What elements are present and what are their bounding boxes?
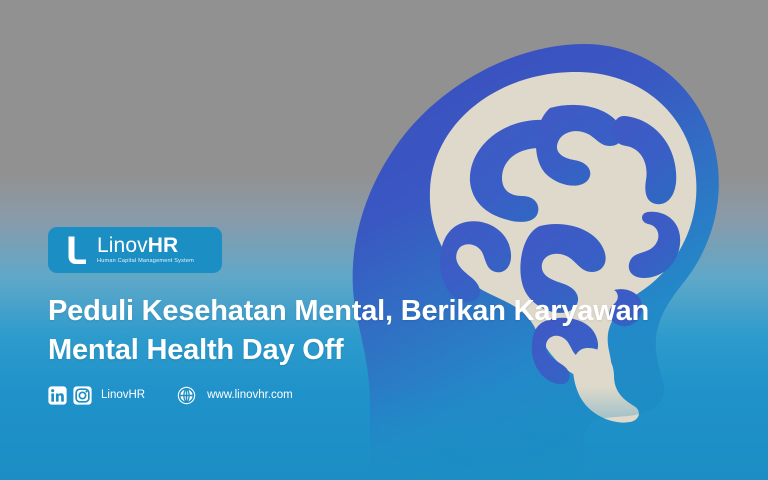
linovhr-L-mark-icon	[66, 235, 88, 265]
footer-social-row: LinovHR www.linovhr.com	[48, 384, 293, 406]
logo-wordmark: LinovHR	[97, 235, 194, 256]
headline-line-1: Peduli Kesehatan Mental, Berikan Karyawa…	[48, 292, 748, 331]
instagram-icon[interactable]	[73, 386, 92, 405]
headline-line-2: Mental Health Day Off	[48, 331, 748, 370]
globe-icon	[177, 386, 196, 405]
logo-tagline: Human Capital Management System	[97, 259, 194, 265]
headline: Peduli Kesehatan Mental, Berikan Karyawa…	[48, 292, 748, 370]
linkedin-icon[interactable]	[48, 386, 67, 405]
website-url: www.linovhr.com	[207, 389, 293, 401]
social-handle: LinovHR	[101, 389, 145, 401]
linovhr-logo[interactable]: LinovHR Human Capital Management System	[48, 227, 222, 273]
logo-word-primary: Linov	[97, 234, 148, 257]
logo-text: LinovHR Human Capital Management System	[97, 235, 194, 265]
social-links: LinovHR	[48, 386, 145, 405]
promo-banner: LinovHR Human Capital Management System …	[0, 0, 768, 480]
website-link[interactable]: www.linovhr.com	[177, 386, 293, 405]
logo-word-accent: HR	[148, 234, 179, 257]
